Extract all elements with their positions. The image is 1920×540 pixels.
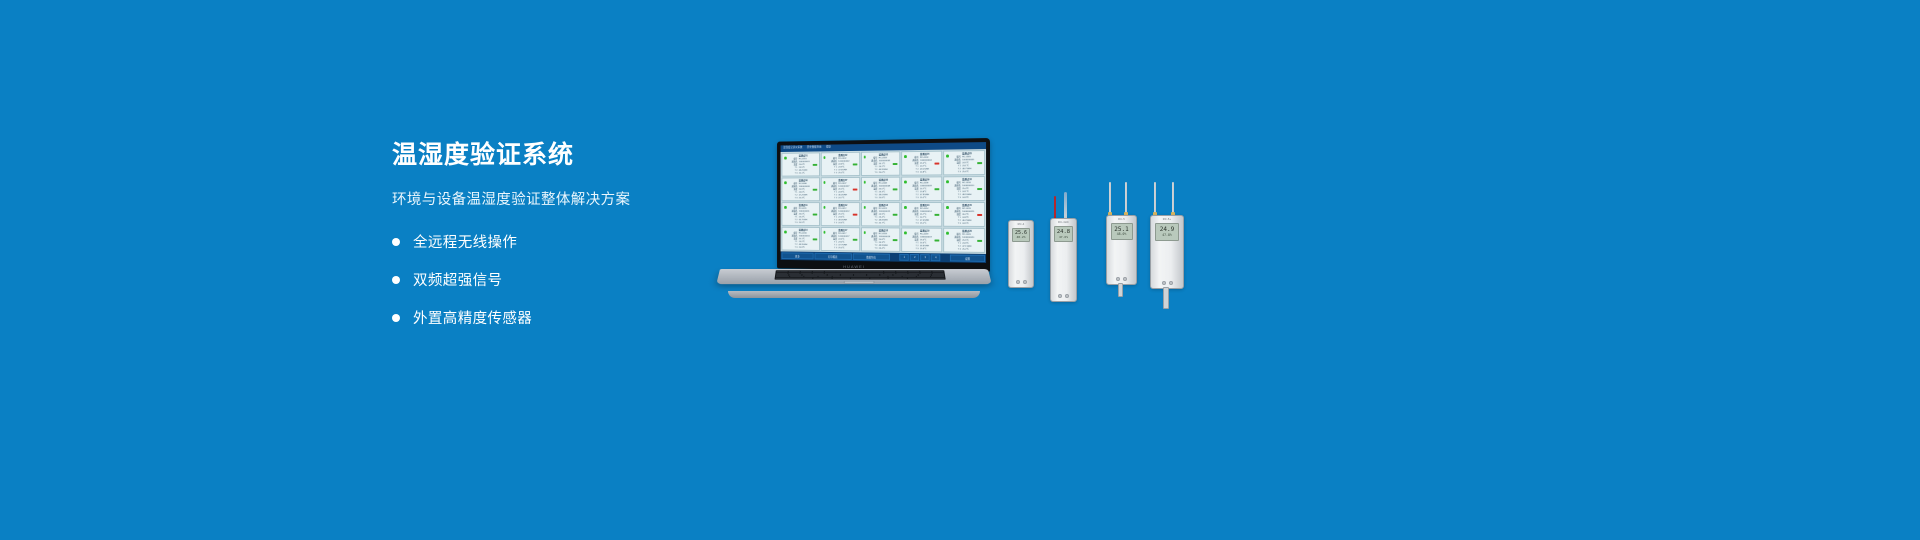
device-body: RC-5+ 24.9 47.8% [1150, 215, 1184, 289]
status-dot-icon [863, 181, 865, 184]
status-dot-icon [784, 157, 786, 159]
keyboard-key[interactable] [889, 278, 907, 279]
card-row-value: 25.7℃ [879, 222, 898, 225]
status-dot-icon [784, 181, 786, 183]
sensor-card[interactable]: 监测点14编号RC-0014通道名1000000014温度25.7℃T 124.… [902, 202, 943, 227]
card-row-key: T 3 [829, 247, 837, 250]
status-dot-icon [823, 206, 825, 208]
card-data-row: T 325.7℃ [869, 222, 898, 225]
laptop-brand-label: HUAWEI [843, 264, 865, 269]
card-data-row: T 325.5℃ [789, 222, 817, 225]
device-model-label: RC-4 [1009, 221, 1033, 226]
sensor-card[interactable]: 监测点09编号RC-0009通道名1000000009温度24.7℃T 123.… [902, 176, 943, 201]
feature-label: 双频超强信号 [413, 269, 502, 290]
card-data-row: T 325.3℃ [789, 197, 817, 200]
sensor-card[interactable]: 监测点06编号RC-0006通道名1000000006温度25.9℃T 124.… [781, 177, 819, 201]
device-key-left[interactable] [1162, 281, 1166, 285]
card-data-row: T 325.0℃ [829, 247, 857, 250]
card-row-value: 25.9℃ [799, 246, 817, 249]
toolbar-button-settings[interactable]: 设置 [950, 254, 985, 261]
card-data-row: T 324.6℃ [829, 222, 857, 225]
card-row-value: 25.4℃ [838, 172, 857, 175]
device-handheld-logger: RC-4 25.6 48.2% [1008, 220, 1034, 288]
card-row-value: 24.6℃ [838, 222, 857, 225]
card-data-row: T 324.8℃ [910, 171, 939, 174]
toolbar-button-print[interactable]: 打印报表 [814, 253, 851, 260]
card-row-value: 25.6℃ [920, 248, 939, 251]
lcd-secondary-reading: 47.8% [1162, 234, 1172, 237]
keyboard-key[interactable] [870, 278, 888, 279]
feature-list: 全远程无线操作 双频超强信号 外置高精度传感器 [392, 231, 722, 328]
sensor-card[interactable]: 监测点16编号RC-0016通道名1000000016温度25.1℃T 123.… [781, 227, 819, 251]
card-row-value: 25.5℃ [799, 222, 817, 225]
card-row-key: T 3 [789, 197, 797, 200]
antenna-right [1172, 182, 1174, 216]
sensor-card[interactable]: 监测点08编号RC-0008通道名1000000008温度25.0℃T 123.… [861, 177, 901, 201]
card-row-key: T 3 [789, 246, 797, 249]
device-validator-a: RC-5 25.1 48.0% [1106, 182, 1137, 285]
status-dot-icon [823, 181, 825, 183]
device-body: RC-4 25.6 48.2% [1008, 220, 1034, 288]
antenna-left [1109, 182, 1111, 216]
card-row-value: 24.8℃ [920, 171, 939, 174]
card-data-row: T 325.1℃ [789, 172, 817, 175]
device-body: RC-5 25.1 48.0% [1106, 215, 1137, 285]
status-dot-icon [946, 155, 949, 158]
sensor-card[interactable]: 监测点20编号RC-0020通道名1000000020温度25.5℃T 123.… [943, 228, 985, 253]
card-row-key: T 3 [829, 172, 837, 175]
app-toolbar: 更多 打印报表 数据导出 1 2 3 4 设置 [781, 251, 986, 263]
card-data-row: T 325.9℃ [789, 246, 817, 249]
card-row-value: 25.2℃ [962, 248, 982, 251]
status-dot-icon [904, 181, 906, 184]
sensor-card[interactable]: 监测点01编号RC-0001通道名1000000001温度25.6℃T 123.… [781, 152, 819, 176]
sensor-card[interactable]: 监测点17编号RC-0017通道名1000000017温度24.6℃T 123.… [821, 227, 860, 251]
menu-item-history[interactable]: 历史数据查询 [807, 147, 822, 150]
card-row-value: 24.5℃ [962, 222, 982, 225]
device-keypad[interactable] [1009, 280, 1033, 284]
antenna-right [1125, 182, 1127, 216]
page-subtitle: 环境与设备温湿度验证整体解决方案 [392, 188, 722, 209]
lcd-secondary-reading: 47.6% [1059, 236, 1068, 239]
status-dot-icon [904, 155, 906, 158]
status-dot-icon [863, 206, 865, 209]
laptop-foot [728, 291, 980, 298]
laptop-deck [716, 269, 991, 284]
feature-label: 全远程无线操作 [413, 231, 517, 252]
device-key-right[interactable] [1065, 294, 1069, 298]
card-row-key: T 3 [952, 171, 961, 174]
card-row-key: T 3 [910, 248, 919, 251]
device-lcd-display: 25.6 48.2% [1012, 228, 1030, 242]
sensor-card[interactable]: 监测点13编号RC-0013通道名1000000013温度24.9℃T 123.… [861, 202, 901, 226]
status-dot-icon [823, 231, 825, 234]
card-row-key: T 3 [829, 222, 837, 225]
sensor-card[interactable]: 监测点18编号RC-0018通道名1000000018温度25.8℃T 124.… [861, 227, 901, 252]
menu-item-system[interactable]: 温湿度记录仪系统 [783, 147, 802, 150]
card-data-row: T 325.6℃ [910, 248, 939, 251]
keyboard-key[interactable] [851, 278, 869, 279]
sensor-card[interactable]: 监测点02编号RC-0002通道名1000000002温度24.8℃T 123.… [821, 152, 860, 176]
card-row-value: 25.2℃ [920, 197, 939, 200]
hero-text-block: 温湿度验证系统 环境与设备温湿度验证整体解决方案 全远程无线操作 双频超强信号 … [392, 140, 722, 345]
card-row-value: 24.4℃ [879, 247, 898, 250]
status-dot-icon [904, 231, 906, 234]
sensor-card-grid: 监测点01编号RC-0001通道名1000000001温度25.6℃T 123.… [781, 149, 986, 254]
keyboard-key[interactable] [794, 278, 812, 279]
pager-button-4[interactable]: 4 [931, 254, 941, 261]
card-row-value: 24.7℃ [838, 197, 857, 200]
card-row-key: T 3 [789, 172, 797, 175]
sensor-card[interactable]: 监测点03编号RC-0003通道名1000000003温度26.1℃T 124.… [861, 151, 901, 176]
feature-item-dualband: 双频超强信号 [392, 269, 722, 290]
sensor-card[interactable]: 监测点07编号RC-0007通道名1000000007温度26.3℃T 124.… [821, 177, 860, 201]
pager-button-2[interactable]: 2 [910, 254, 920, 261]
card-row-value: 25.1℃ [920, 222, 939, 225]
device-lcd-display: 24.8 47.6% [1054, 226, 1073, 242]
sensor-card[interactable]: 监测点19编号RC-0019通道名1000000019温度26.4℃T 124.… [902, 227, 943, 252]
card-data-row: T 324.7℃ [829, 197, 857, 200]
device-key-right[interactable] [1023, 280, 1027, 284]
sensor-card[interactable]: 监测点04编号RC-0004通道名1000000004温度25.2℃T 123.… [902, 151, 943, 176]
card-row-key: T 3 [952, 222, 961, 225]
device-key-left[interactable] [1016, 280, 1020, 284]
page-title: 温湿度验证系统 [392, 140, 722, 170]
card-row-key: T 3 [829, 197, 837, 200]
status-dot-icon [784, 231, 786, 233]
device-model-label: RC-5 [1107, 216, 1136, 221]
card-row-value: 24.9℃ [962, 197, 982, 200]
device-body: RC-4HC 24.8 47.6% [1050, 218, 1077, 302]
card-row-key: T 3 [869, 247, 877, 250]
keyboard-row [775, 278, 944, 279]
device-lcd-display: 24.9 47.8% [1155, 223, 1179, 241]
laptop-device: 温湿度记录仪系统 历史数据查询 帮助 监测点01编号RC-0001通道名1000… [718, 138, 990, 300]
feature-item-remote: 全远程无线操作 [392, 231, 722, 252]
sensor-card[interactable]: 监测点10编号RC-0010通道名1000000010温度25.4℃T 124.… [943, 176, 985, 201]
status-dot-icon [823, 156, 825, 159]
status-dot-icon [946, 206, 949, 209]
card-row-value: 25.0℃ [879, 171, 898, 174]
card-row-value: 25.3℃ [799, 197, 817, 200]
device-wired-probe-logger: RC-4HC 24.8 47.6% [1050, 200, 1077, 302]
device-key-right[interactable] [1123, 277, 1127, 281]
status-dot-icon [904, 206, 906, 209]
card-data-row: T 325.2℃ [910, 197, 939, 200]
card-row-key: T 3 [910, 197, 919, 200]
status-dot-icon [863, 231, 865, 234]
card-data-row: T 324.4℃ [869, 247, 898, 250]
pager-button-1[interactable]: 1 [900, 254, 909, 261]
device-keypad[interactable] [1051, 294, 1076, 298]
card-data-row: T 324.9℃ [952, 197, 982, 200]
product-banner: 温湿度验证系统 环境与设备温湿度验证整体解决方案 全远程无线操作 双频超强信号 … [0, 0, 1920, 540]
lcd-secondary-reading: 48.2% [1016, 236, 1025, 239]
sensor-card[interactable]: 监测点15编号RC-0015通道名1000000015温度26.2℃T 124.… [943, 202, 985, 227]
toolbar-spacer [891, 254, 899, 261]
status-dot-icon [946, 180, 949, 183]
keyboard-key[interactable] [908, 278, 926, 279]
toolbar-button-more[interactable]: 更多 [781, 252, 813, 259]
card-data-row: T 325.6℃ [952, 171, 982, 174]
pager-button-3[interactable]: 3 [920, 254, 930, 261]
feature-item-sensor: 外置高精度传感器 [392, 307, 722, 328]
card-row-value: 25.0℃ [838, 247, 857, 250]
card-row-key: T 3 [952, 197, 961, 200]
card-data-row: T 325.2℃ [952, 248, 982, 251]
sensor-card[interactable]: 监测点11编号RC-0011通道名1000000011温度26.0℃T 124.… [781, 202, 819, 226]
device-lcd-display: 25.1 48.0% [1111, 223, 1133, 240]
status-dot-icon [863, 156, 865, 159]
card-row-value: 25.8℃ [879, 197, 898, 200]
card-row-key: T 3 [789, 222, 797, 225]
status-dot-icon [946, 232, 949, 235]
card-data-row: T 325.4℃ [829, 172, 857, 175]
keyboard-key[interactable] [775, 278, 793, 279]
device-validator-b: RC-5+ 24.9 47.8% [1150, 182, 1184, 289]
device-lineup: RC-4 25.6 48.2% RC-4HC 24.8 47.6% [1002, 178, 1202, 318]
feature-label: 外置高精度传感器 [413, 307, 532, 328]
card-row-key: T 3 [869, 222, 877, 225]
device-model-label: RC-4HC [1051, 219, 1076, 224]
card-row-key: T 3 [910, 171, 919, 174]
card-row-value: 25.1℃ [799, 172, 817, 175]
card-row-key: T 3 [952, 248, 961, 251]
sensor-probe [1118, 283, 1123, 297]
device-key-left[interactable] [1116, 277, 1120, 281]
laptop-trackpad[interactable] [844, 281, 875, 284]
antenna-left [1154, 182, 1156, 216]
keyboard-key[interactable] [927, 278, 945, 279]
card-data-row: T 324.5℃ [952, 222, 982, 225]
menu-item-help[interactable]: 帮助 [826, 147, 831, 150]
keyboard-key[interactable] [813, 278, 831, 279]
sensor-probe [1163, 287, 1169, 309]
sensor-card[interactable]: 监测点12编号RC-0012通道名1000000012温度25.3℃T 123.… [821, 202, 860, 226]
card-row-key: T 3 [869, 197, 877, 200]
card-data-row: T 325.0℃ [869, 171, 898, 174]
card-row-key: T 3 [869, 172, 877, 175]
bullet-dot-icon [392, 238, 400, 246]
device-keypad[interactable] [1107, 277, 1136, 281]
sensor-card[interactable]: 监测点05编号RC-0005通道名1000000005温度24.5℃T 123.… [943, 150, 985, 175]
keyboard-key[interactable] [832, 278, 850, 279]
bullet-dot-icon [392, 314, 400, 322]
laptop-lid: 温湿度记录仪系统 历史数据查询 帮助 监测点01编号RC-0001通道名1000… [777, 138, 990, 272]
status-dot-icon [784, 206, 786, 208]
device-key-left[interactable] [1058, 294, 1062, 298]
laptop-base [718, 269, 990, 300]
device-model-label: RC-5+ [1151, 216, 1183, 221]
probe-cable-secondary [1064, 192, 1067, 220]
card-data-row: T 325.1℃ [910, 222, 939, 225]
laptop-keyboard[interactable] [774, 270, 945, 279]
device-keypad[interactable] [1151, 281, 1183, 285]
bullet-dot-icon [392, 276, 400, 284]
toolbar-spacer [942, 254, 950, 261]
lcd-secondary-reading: 48.0% [1117, 233, 1127, 236]
toolbar-button-export[interactable]: 数据导出 [852, 253, 890, 260]
card-row-value: 25.6℃ [962, 171, 982, 174]
laptop-screen: 温湿度记录仪系统 历史数据查询 帮助 监测点01编号RC-0001通道名1000… [781, 142, 986, 263]
probe-cable [1054, 196, 1056, 220]
card-row-key: T 3 [910, 222, 919, 225]
device-key-right[interactable] [1169, 281, 1173, 285]
card-data-row: T 325.8℃ [869, 197, 898, 200]
